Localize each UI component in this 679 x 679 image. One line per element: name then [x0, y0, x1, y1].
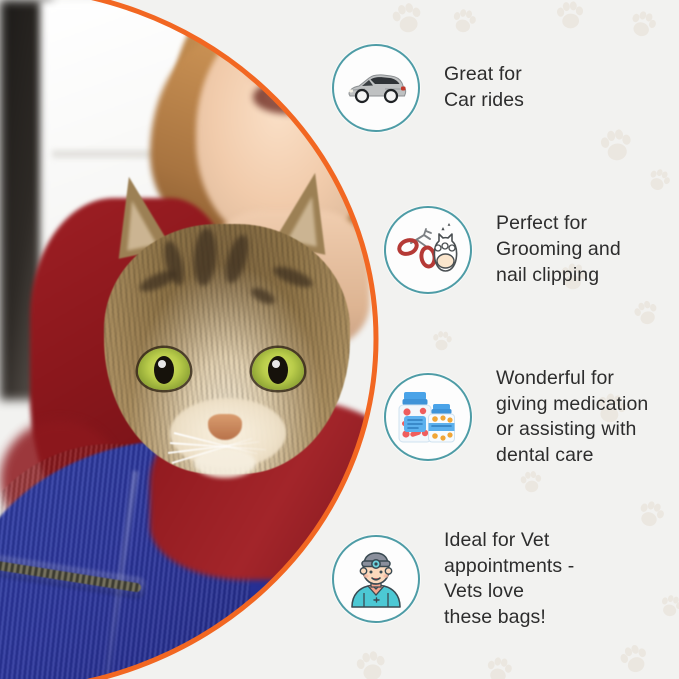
veterinarian-icon: [346, 549, 406, 609]
feature-label: Great for Car rides: [444, 62, 524, 113]
person-lip: [250, 68, 330, 84]
tabby-cat: [96, 170, 364, 530]
paw-print-icon: [431, 329, 453, 352]
feature-car-rides: Great for Car rides: [332, 44, 524, 132]
person-mouth: [253, 80, 325, 114]
paw-print-icon: [450, 6, 479, 36]
feature-label: Perfect for Grooming and nail clipping: [496, 211, 621, 288]
paw-print-icon: [353, 647, 389, 679]
paw-print-icon: [484, 654, 514, 679]
paw-print-icon: [634, 496, 668, 531]
paw-print-icon: [597, 125, 634, 164]
feature-label: Wonderful for giving medication or assis…: [496, 366, 648, 469]
paw-print-icon: [631, 297, 662, 328]
feature-label: Ideal for Vet appointments - Vets love t…: [444, 528, 574, 631]
feature-icon-badge: [384, 206, 472, 294]
feature-icon-badge: [332, 44, 420, 132]
paw-print-icon: [519, 469, 544, 495]
paw-print-icon: [626, 7, 659, 41]
cat-eye-glint-right: [272, 360, 280, 368]
feature-medication: Wonderful for giving medication or assis…: [384, 366, 648, 469]
paw-print-icon: [657, 591, 679, 619]
paw-print-icon: [616, 640, 652, 677]
infographic-canvas: Great for Car rides: [0, 0, 679, 679]
paw-print-icon: [644, 165, 673, 195]
pill-bottles-icon: [398, 388, 458, 446]
cat-eye-glint-left: [158, 360, 166, 368]
feature-vet-appointments: Ideal for Vet appointments - Vets love t…: [332, 528, 574, 631]
feature-icon-badge: [384, 373, 472, 461]
nail-clippers-paw-icon: [397, 221, 459, 279]
paw-print-icon: [555, 0, 586, 31]
feature-icon-badge: [332, 535, 420, 623]
paw-print-icon: [389, 0, 426, 37]
car-icon: [345, 68, 407, 108]
feature-grooming: Perfect for Grooming and nail clipping: [384, 206, 621, 294]
